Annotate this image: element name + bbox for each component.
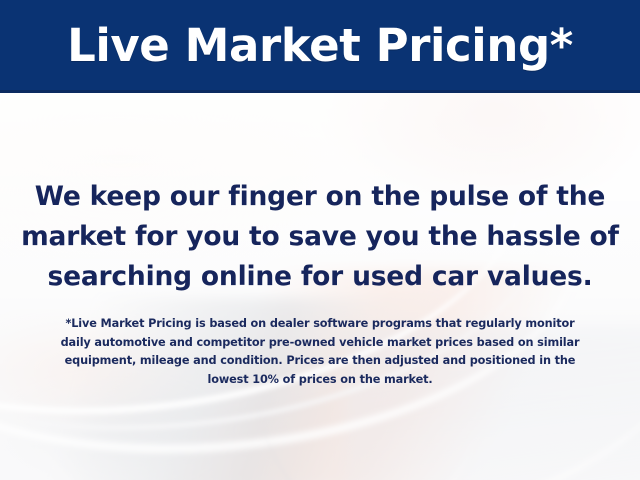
- content-area: We keep our finger on the pulse of the m…: [0, 93, 640, 480]
- header-banner: Live Market Pricing*: [0, 0, 640, 93]
- page-title: Live Market Pricing*: [67, 23, 573, 71]
- headline-line-2: market for you to save you the hassle of: [18, 217, 622, 257]
- headline: We keep our finger on the pulse of the m…: [0, 177, 640, 297]
- disclaimer-line-3: equipment, mileage and condition. Prices…: [26, 352, 614, 371]
- disclaimer-line-1: *Live Market Pricing is based on dealer …: [26, 315, 614, 334]
- disclaimer: *Live Market Pricing is based on dealer …: [0, 315, 640, 389]
- disclaimer-line-2: daily automotive and competitor pre-owne…: [26, 334, 614, 353]
- headline-line-3: searching online for used car values.: [18, 257, 622, 297]
- live-market-pricing-card: Live Market Pricing* We keep our finger …: [0, 0, 640, 480]
- disclaimer-line-4: lowest 10% of prices on the market.: [26, 371, 614, 390]
- headline-line-1: We keep our finger on the pulse of the: [18, 177, 622, 217]
